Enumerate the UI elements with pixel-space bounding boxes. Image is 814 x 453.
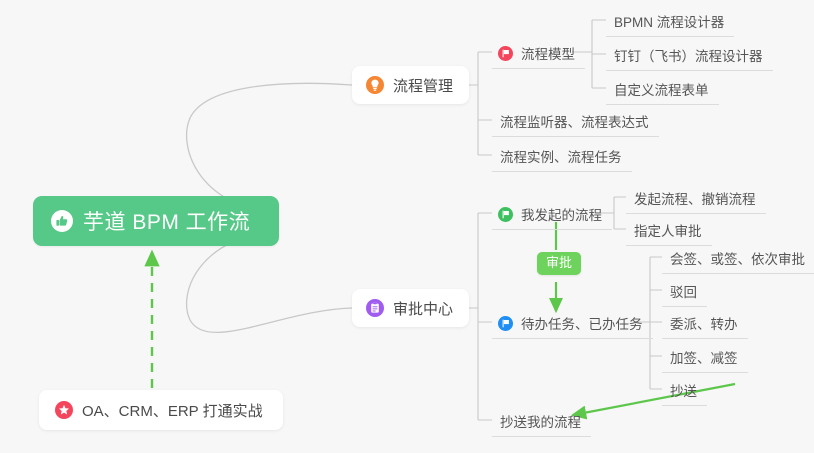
lightbulb-icon xyxy=(366,76,384,94)
leaf-label: 钉钉（飞书）流程设计器 xyxy=(614,45,763,65)
leaf-cc[interactable]: 抄送 xyxy=(662,377,707,406)
leaf-add-remove-sign[interactable]: 加签、减签 xyxy=(662,344,748,373)
node-label-todo-done: 待办任务、已办任务 xyxy=(521,313,643,333)
link-root-to-approval-center xyxy=(187,232,352,332)
leaf-label: BPMN 流程设计器 xyxy=(614,11,724,31)
mindmap-canvas: 芋道 BPM 工作流 流程管理 流程模型 BPMN 流程设计器 钉钉（飞书 xyxy=(0,0,814,453)
flag-icon-green xyxy=(498,207,513,222)
badge-approval[interactable]: 审批 xyxy=(537,252,581,275)
leaf-label: 驳回 xyxy=(670,281,697,301)
branch-node-approval-center[interactable]: 审批中心 xyxy=(352,289,469,327)
node-flow-model[interactable]: 流程模型 xyxy=(492,40,585,69)
leaf-label: 指定人审批 xyxy=(634,220,702,240)
leaf-label: 流程监听器、流程表达式 xyxy=(500,111,649,131)
branch-label-approval-center: 审批中心 xyxy=(393,298,453,319)
leaf-cc-to-me-flows[interactable]: 抄送我的流程 xyxy=(492,408,591,437)
leaf-label: 发起流程、撤销流程 xyxy=(634,188,756,208)
node-todo-done-tasks[interactable]: 待办任务、已办任务 xyxy=(492,310,653,339)
leaf-start-cancel-flow[interactable]: 发起流程、撤销流程 xyxy=(626,185,766,214)
leaf-label: 委派、转办 xyxy=(670,313,738,333)
bottom-node-label: OA、CRM、ERP 打通实战 xyxy=(82,400,263,421)
leaf-custom-form[interactable]: 自定义流程表单 xyxy=(606,76,719,105)
leaf-delegate-transfer[interactable]: 委派、转办 xyxy=(662,310,748,339)
root-label: 芋道 BPM 工作流 xyxy=(83,206,250,236)
branch-label-flow-management: 流程管理 xyxy=(393,75,453,96)
flag-icon-red xyxy=(498,46,513,61)
leaf-label: 抄送我的流程 xyxy=(500,411,581,431)
leaf-reject[interactable]: 驳回 xyxy=(662,278,707,307)
star-icon xyxy=(55,401,73,419)
leaf-countersign-modes[interactable]: 会签、或签、依次审批 xyxy=(662,245,814,274)
leaf-label: 自定义流程表单 xyxy=(614,79,709,99)
leaf-bpmn-designer[interactable]: BPMN 流程设计器 xyxy=(606,8,734,37)
thumbs-up-icon xyxy=(51,210,73,232)
link-root-to-flow-management xyxy=(187,83,352,210)
bottom-node-integration[interactable]: OA、CRM、ERP 打通实战 xyxy=(39,390,283,430)
node-label-my-initiated: 我发起的流程 xyxy=(521,204,602,224)
link-green-cc-arrow xyxy=(573,384,735,415)
leaf-label: 加签、减签 xyxy=(670,347,738,367)
flag-icon-blue xyxy=(498,316,513,331)
leaf-designated-approver[interactable]: 指定人审批 xyxy=(626,217,712,246)
leaf-instance-task[interactable]: 流程实例、流程任务 xyxy=(492,143,632,172)
branch-node-flow-management[interactable]: 流程管理 xyxy=(352,66,469,104)
clipboard-icon xyxy=(366,299,384,317)
leaf-label: 会签、或签、依次审批 xyxy=(670,248,805,268)
leaf-label: 抄送 xyxy=(670,380,697,400)
leaf-dingtalk-feishu-designer[interactable]: 钉钉（飞书）流程设计器 xyxy=(606,42,773,71)
node-label-flow-model: 流程模型 xyxy=(521,43,575,63)
badge-label: 审批 xyxy=(546,255,572,270)
leaf-label: 流程实例、流程任务 xyxy=(500,146,622,166)
node-my-initiated-flows[interactable]: 我发起的流程 xyxy=(492,201,612,230)
leaf-listener-expression[interactable]: 流程监听器、流程表达式 xyxy=(492,108,659,137)
root-node[interactable]: 芋道 BPM 工作流 xyxy=(33,196,279,246)
